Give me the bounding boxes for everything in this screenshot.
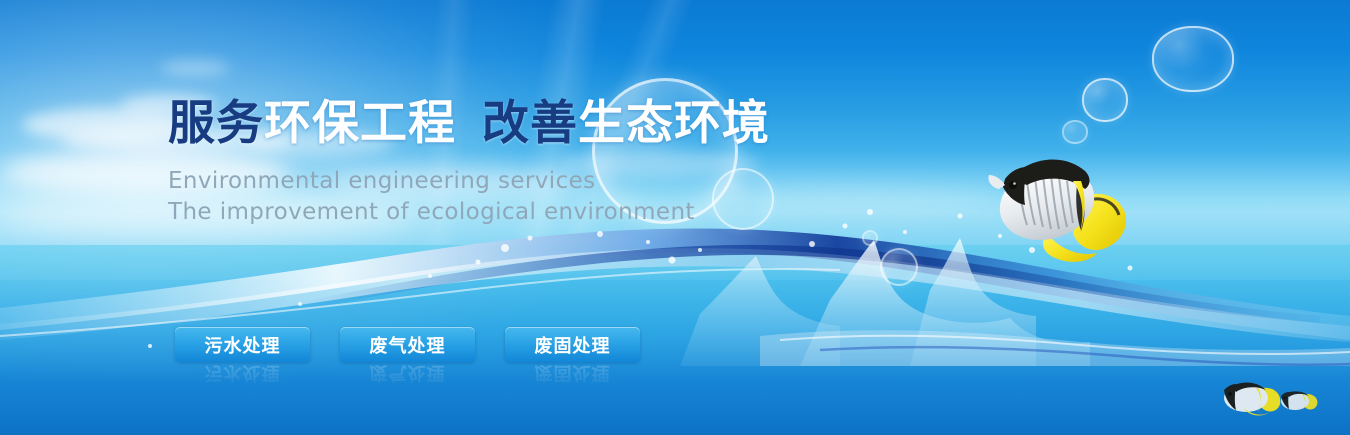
wastewater-treatment-button[interactable]: 污水处理 (175, 327, 310, 362)
bubble-icon (862, 230, 878, 246)
wastewater-treatment-button-reflection: 污水处理 (175, 364, 310, 390)
waste-gas-treatment-button[interactable]: 废气处理 (340, 327, 475, 362)
bubble-icon (880, 248, 918, 286)
service-button-cell: 废气处理 废气处理 (340, 327, 475, 390)
bubble-icon (1062, 120, 1088, 144)
waste-gas-treatment-button-reflection: 废气处理 (340, 364, 475, 390)
service-button-cell: 废固处理 废固处理 (505, 327, 640, 390)
service-button-row: 污水处理 污水处理 废气处理 废气处理 废固处理 废固处理 (175, 327, 640, 390)
headline-part2-light: 生态环境 (578, 96, 770, 151)
cloud-graphic (160, 60, 230, 76)
hero-banner: 服务环保工程改善生态环境 Environmental engineering s… (0, 0, 1350, 435)
butterflyfish-icon (1278, 388, 1320, 414)
solid-waste-treatment-button-reflection: 废固处理 (505, 364, 640, 390)
page-title: 服务环保工程改善生态环境 (168, 96, 788, 152)
headline-part2-dark: 改善 (482, 96, 578, 151)
service-button-cell: 污水处理 污水处理 (175, 327, 310, 390)
subtitle-line-1: Environmental engineering services (168, 166, 788, 197)
cloud-graphic (22, 108, 192, 142)
banner-copy: 服务环保工程改善生态环境 Environmental engineering s… (168, 96, 788, 228)
butterflyfish-icon (1218, 378, 1286, 418)
bubble-icon (1152, 26, 1234, 92)
headline-part1-light: 环保工程 (264, 96, 456, 151)
butterflyfish-icon (985, 145, 1135, 265)
solid-waste-treatment-button[interactable]: 废固处理 (505, 327, 640, 362)
bubble-icon (1082, 78, 1128, 122)
headline-part1-dark: 服务 (168, 96, 264, 151)
subtitle-line-2: The improvement of ecological environmen… (168, 197, 788, 228)
